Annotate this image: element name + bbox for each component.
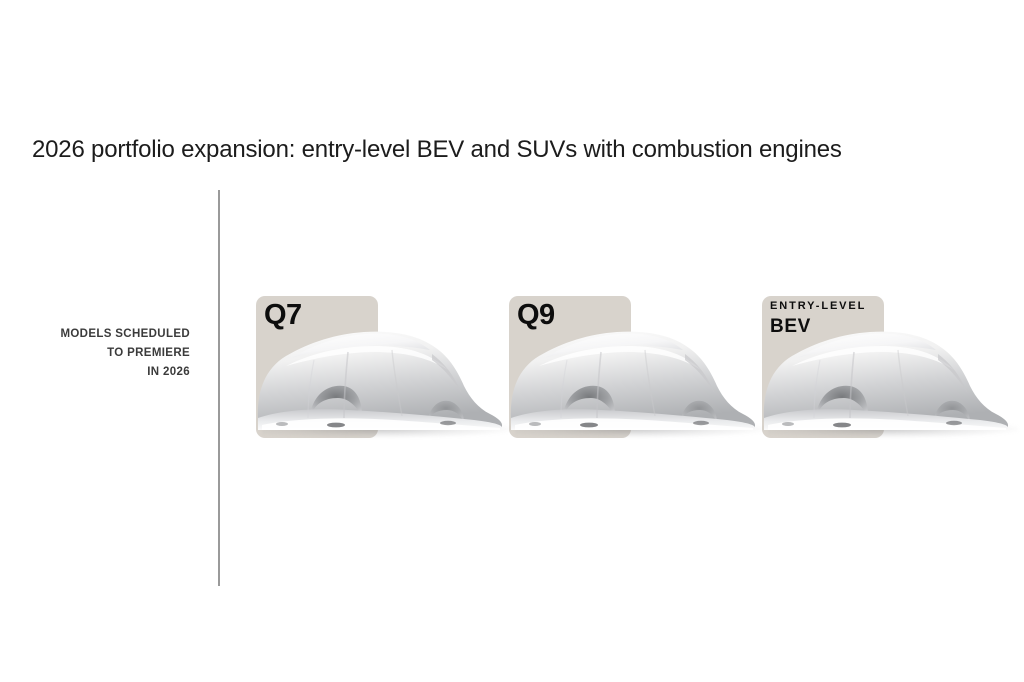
vehicle-label-q9: Q9 (517, 301, 555, 330)
page-title: 2026 portfolio expansion: entry-level BE… (32, 136, 842, 164)
caption-models-scheduled: MODELS SCHEDULED TO PREMIERE IN 2026 (18, 325, 190, 382)
vehicle-label-primary: Q9 (517, 301, 555, 330)
vehicle-label-q7: Q7 (264, 301, 302, 330)
vertical-divider (218, 190, 220, 586)
vehicle-label-secondary: ENTRY-LEVEL (770, 301, 866, 312)
caption-line-3: IN 2026 (18, 363, 190, 382)
presentation-slide: 2026 portfolio expansion: entry-level BE… (0, 0, 1024, 682)
vehicle-card-entry-level-bev[interactable]: ENTRY-LEVEL BEV (762, 288, 1024, 448)
caption-line-2: TO PREMIERE (18, 344, 190, 363)
caption-line-1: MODELS SCHEDULED (18, 325, 190, 344)
vehicle-label-primary: Q7 (264, 301, 302, 330)
vehicle-label-entry-level-bev: ENTRY-LEVEL BEV (770, 301, 866, 336)
vehicle-label-primary: BEV (770, 317, 866, 336)
